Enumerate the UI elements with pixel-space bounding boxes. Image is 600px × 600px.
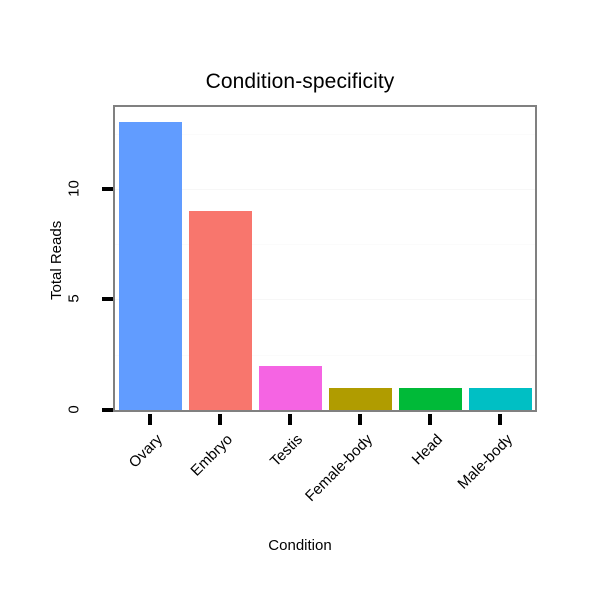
y-tick-label: 10 — [66, 168, 83, 208]
bar[interactable] — [399, 388, 462, 410]
bar[interactable] — [119, 122, 182, 410]
plot-panel — [113, 105, 537, 412]
y-tick-mark — [102, 187, 113, 191]
x-tick-mark — [428, 414, 432, 425]
bar[interactable] — [259, 366, 322, 410]
y-tick-label: 5 — [66, 279, 83, 319]
y-tick-mark — [102, 408, 113, 412]
x-tick-mark — [358, 414, 362, 425]
chart-title: Condition-specificity — [0, 70, 600, 94]
x-tick-mark — [148, 414, 152, 425]
plot-panel-inner — [115, 107, 535, 410]
bar[interactable] — [329, 388, 392, 410]
bar[interactable] — [469, 388, 532, 410]
bar-chart: Condition-specificity 0510 Total Reads O… — [0, 0, 600, 600]
x-tick-mark — [498, 414, 502, 425]
x-tick-mark — [218, 414, 222, 425]
y-tick-label: 0 — [66, 390, 83, 430]
bar[interactable] — [189, 211, 252, 410]
x-axis-title: Condition — [0, 537, 600, 554]
y-tick-mark — [102, 297, 113, 301]
x-tick-mark — [288, 414, 292, 425]
y-axis-title: Total Reads — [48, 221, 65, 300]
